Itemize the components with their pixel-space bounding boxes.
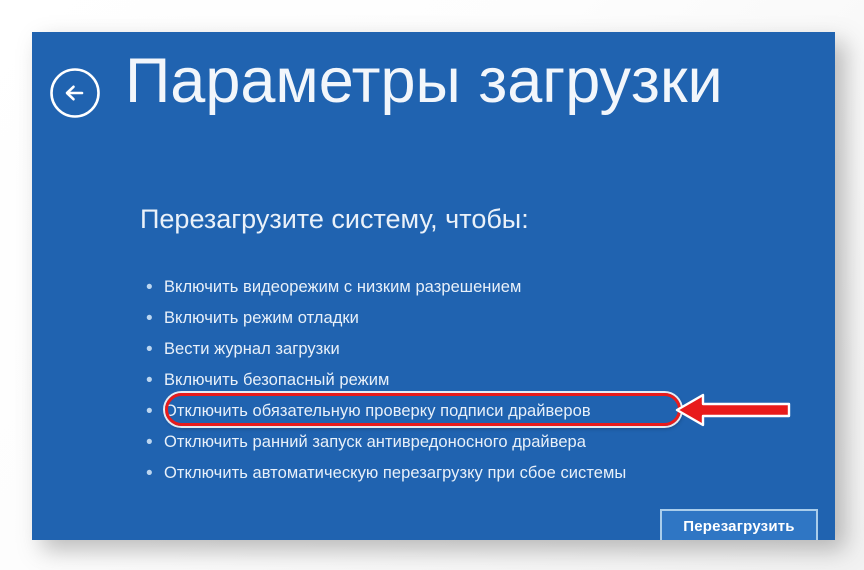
list-item[interactable]: • Отключить ранний запуск антивредоносно… bbox=[144, 427, 784, 458]
bullet-icon: • bbox=[144, 340, 164, 359]
boot-options-screen: Параметры загрузки Перезагрузите систему… bbox=[32, 32, 835, 540]
list-item-label: Включить видеорежим с низким разрешением bbox=[164, 278, 521, 297]
options-list: • Включить видеорежим с низким разрешени… bbox=[144, 272, 784, 489]
back-arrow-circle-icon bbox=[48, 66, 102, 120]
bullet-icon: • bbox=[144, 278, 164, 297]
list-item[interactable]: • Включить безопасный режим bbox=[144, 365, 784, 396]
list-item-label: Отключить ранний запуск антивредоносного… bbox=[164, 433, 586, 452]
subtitle: Перезагрузите систему, чтобы: bbox=[140, 204, 529, 235]
list-item-label: Включить безопасный режим bbox=[164, 371, 389, 390]
restart-button[interactable]: Перезагрузить bbox=[660, 509, 818, 540]
bullet-icon: • bbox=[144, 309, 164, 328]
list-item-highlighted[interactable]: • Отключить обязательную проверку подпис… bbox=[144, 396, 784, 427]
list-item-label: Отключить автоматическую перезагрузку пр… bbox=[164, 464, 626, 483]
bullet-icon: • bbox=[144, 433, 164, 452]
bullet-icon: • bbox=[144, 464, 164, 483]
list-item-label: Включить режим отладки bbox=[164, 309, 359, 328]
list-item-label: Вести журнал загрузки bbox=[164, 340, 340, 359]
bullet-icon: • bbox=[144, 402, 164, 421]
header: Параметры загрузки bbox=[32, 32, 835, 157]
list-item-label: Отключить обязательную проверку подписи … bbox=[164, 402, 591, 421]
page-title: Параметры загрузки bbox=[125, 46, 723, 117]
list-item[interactable]: • Включить режим отладки bbox=[144, 303, 784, 334]
list-item[interactable]: • Отключить автоматическую перезагрузку … bbox=[144, 458, 784, 489]
bullet-icon: • bbox=[144, 371, 164, 390]
list-item[interactable]: • Включить видеорежим с низким разрешени… bbox=[144, 272, 784, 303]
list-item[interactable]: • Вести журнал загрузки bbox=[144, 334, 784, 365]
back-button[interactable] bbox=[48, 66, 102, 120]
